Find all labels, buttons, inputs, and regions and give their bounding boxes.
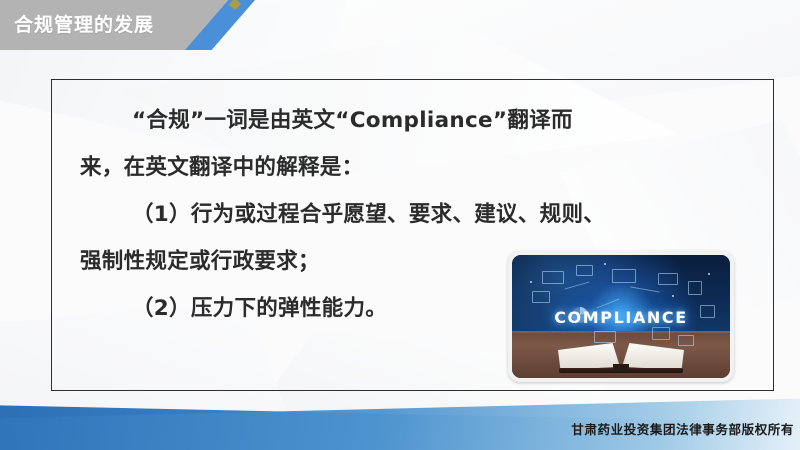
sparkle-1	[530, 281, 532, 283]
chart-glyph-1	[542, 271, 564, 284]
body-line-1: “合规”一词是由英文“Compliance”翻译而	[80, 97, 720, 144]
book-page-right	[622, 343, 684, 370]
chart-glyph-3	[612, 269, 636, 283]
sparkle-3	[672, 295, 674, 297]
body-line-2: 来，在英文翻译中的解释是：	[80, 144, 720, 191]
footer-copyright: 甘肃药业投资集团法律事务部版权所有	[571, 419, 794, 438]
compliance-caption: COMPLIANCE	[512, 308, 730, 327]
body-line-3: （1）行为或过程合乎愿望、要求、建议、规则、	[80, 191, 720, 238]
page-title: 合规管理的发展	[14, 10, 154, 37]
bottom-band-front	[0, 384, 800, 450]
chart-glyph-4	[658, 273, 678, 285]
slide-canvas: 合规管理的发展 “合规”一词是由英文“Compliance”翻译而 来，在英文翻…	[0, 0, 800, 450]
book-spine	[613, 364, 629, 372]
book-page-left	[558, 343, 620, 370]
sparkle-2	[604, 263, 606, 265]
chart-glyph-2	[576, 265, 593, 276]
compliance-image-inner: COMPLIANCE	[512, 255, 730, 378]
chart-glyph-5	[688, 281, 702, 295]
title-banner: 合规管理的发展	[0, 0, 290, 50]
compliance-book-image: COMPLIANCE	[508, 251, 734, 382]
sparkle-6	[708, 273, 710, 275]
open-book-icon	[557, 339, 685, 373]
chart-glyph-6	[532, 291, 550, 303]
